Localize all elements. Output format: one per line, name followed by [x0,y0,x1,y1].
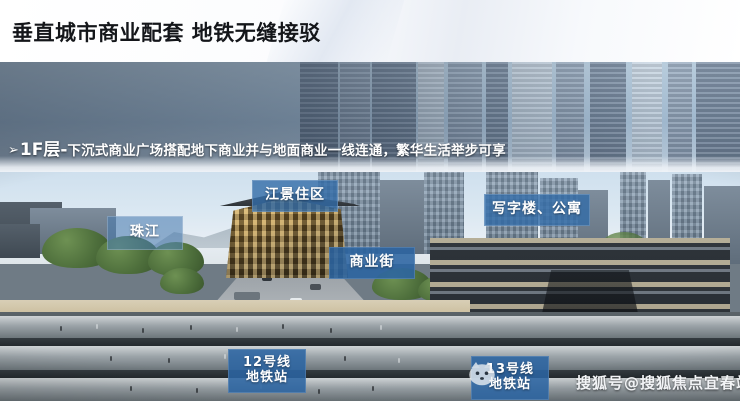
callout-shangyejie: 商业街 [329,247,415,279]
building-shape [0,224,40,258]
callout-zhujiang: 珠江 [107,216,183,250]
callout-metro-line-12: 12号线 地铁站 [228,349,306,393]
callout-xiezilou-gongyu: 写字楼、公寓 [484,194,590,226]
callout-line-12-station: 地铁站 [246,371,288,386]
bullet-head: 1F层 [20,140,60,160]
figure [344,356,346,361]
bullet-item-1: ➢1F层-下沉式商业广场搭配地下商业并与地面商业一线连通，繁华生活举步可享 [8,135,506,160]
figure [142,328,144,333]
bullet-body: 下沉式商业广场搭配地下商业并与地面商业一线连通，繁华生活举步可享 [67,143,505,159]
sohu-fox-icon [467,360,497,388]
figure [236,327,238,332]
figure [372,386,374,391]
bus-vehicle [234,292,260,300]
figure [224,354,226,359]
architectural-render-image [0,172,740,401]
underground-level-1 [0,316,740,338]
vehicle [310,284,321,290]
bullets-band: ➢1F层-下沉式商业广场搭配地下商业并与地面商业一线连通，繁华生活举步可享 ➢-… [0,62,740,172]
callout-line-12-name: 12号线 [243,356,291,371]
figure [330,328,332,333]
callout-jiangjing-zhuqu: 江景住区 [252,180,338,212]
figure [190,325,192,330]
figure [282,324,284,329]
figure [196,388,198,393]
title-band: 垂直城市商业配套 地铁无缝接驳 [0,0,740,62]
figure [60,326,62,331]
figure [96,324,98,329]
building-shape [380,180,424,254]
figure [380,325,382,330]
slide-root: 垂直城市商业配套 地铁无缝接驳 ➢1F层-下沉式商业广场搭配地下商业并与地面商业… [0,0,740,401]
tree-cluster [160,268,204,294]
page-title: 垂直城市商业配套 地铁无缝接驳 [12,20,321,46]
figure [318,389,320,394]
figure [130,386,132,391]
figure [168,358,170,363]
figure [398,358,400,363]
watermark-text: 搜狐号@搜狐焦点宜春站 [576,372,740,393]
bullet-arrow-icon: ➢ [8,143,19,158]
figure [110,356,112,361]
level-divider [0,338,740,346]
